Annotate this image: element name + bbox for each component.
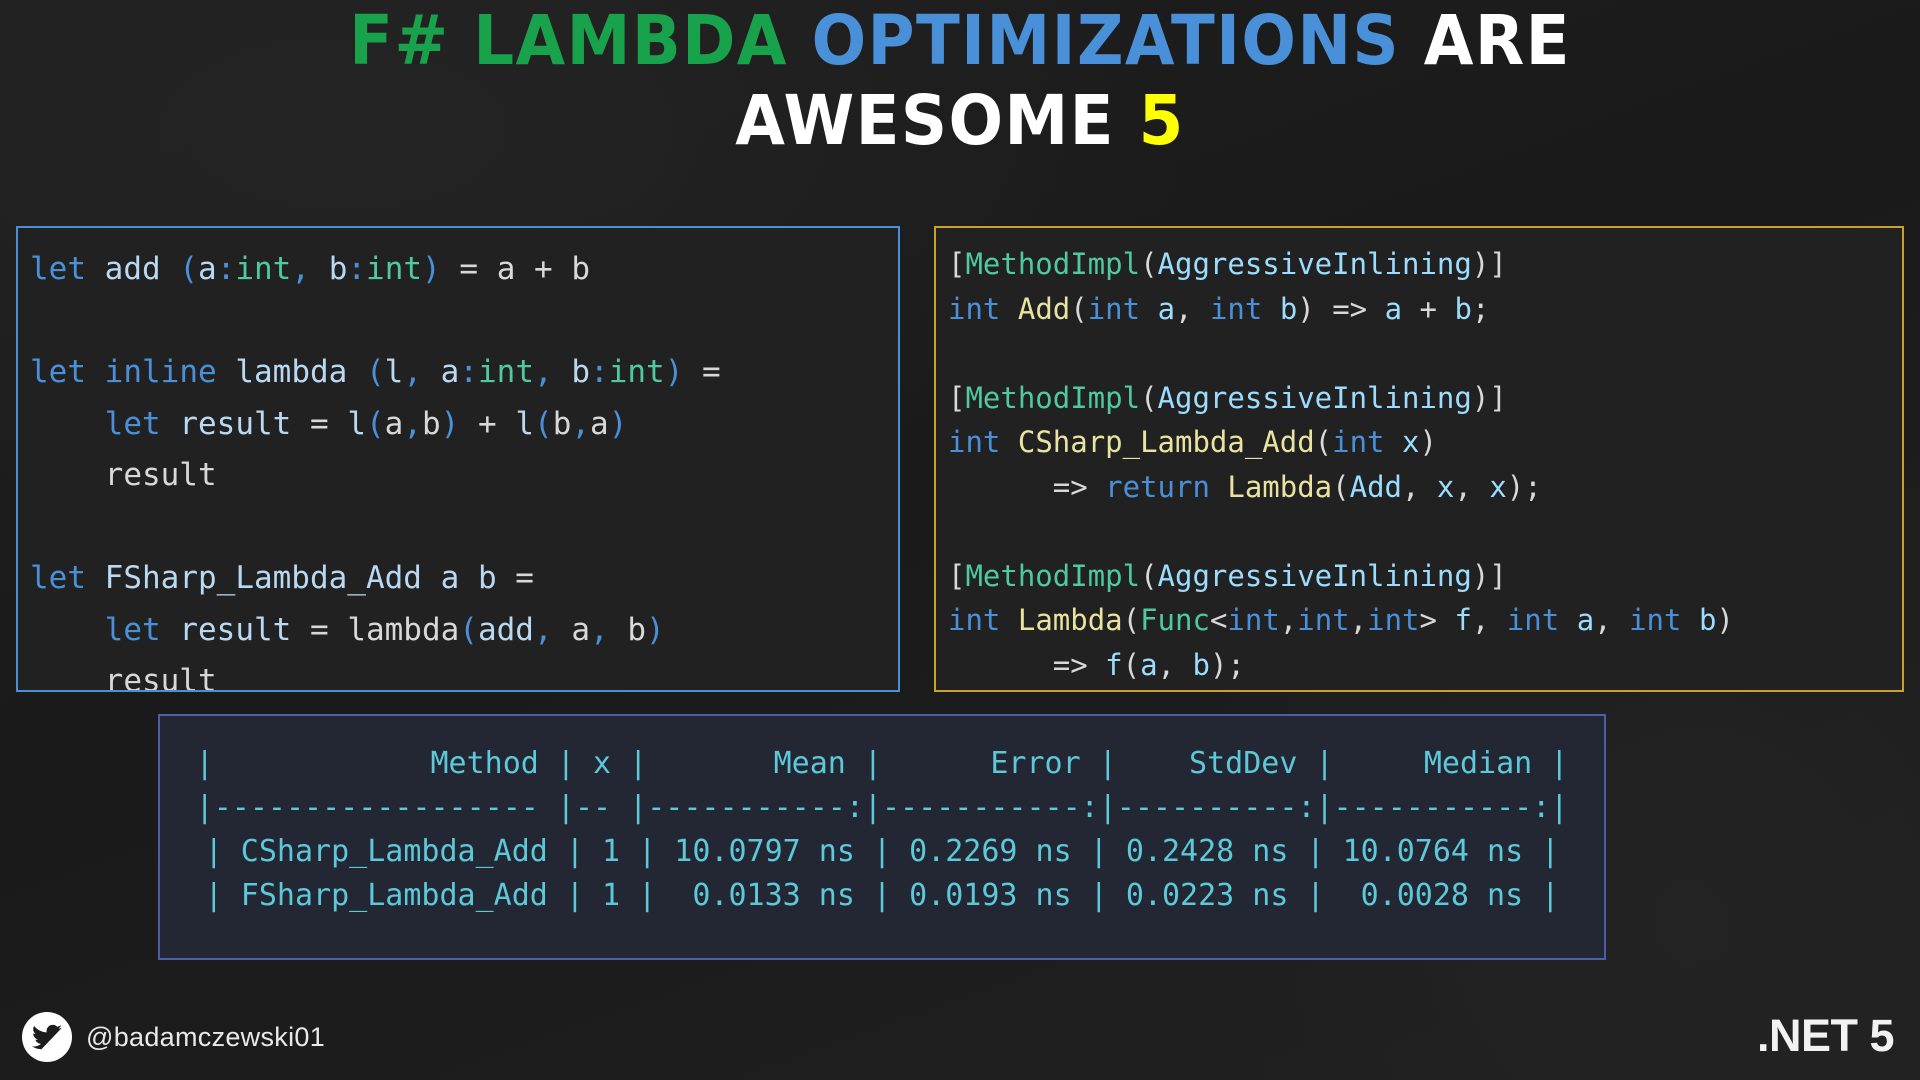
code-token (161, 406, 180, 442)
code-token: b (422, 406, 441, 442)
code-token: a (441, 560, 460, 596)
code-token: int (948, 425, 1000, 459)
code-token: , (534, 612, 553, 648)
code-token (217, 354, 236, 390)
code-token: f (1454, 603, 1471, 637)
table-row: | CSharp_Lambda_Add | 1 | 10.0797 ns | 0… (160, 830, 1604, 874)
fsharp-code-panel: let add (a:int, b:int) = a + b let inlin… (16, 226, 900, 692)
code-token: ( (1140, 559, 1157, 593)
code-token (30, 457, 105, 493)
code-token: int (609, 354, 665, 390)
code-token: lambda (347, 612, 459, 648)
code-token: ) (422, 251, 441, 287)
code-token: Func (1140, 603, 1210, 637)
code-token: ( (1123, 648, 1140, 682)
code-token (86, 251, 105, 287)
code-token: ( (179, 251, 198, 287)
code-token: => (948, 648, 1105, 682)
footer-social: @badamczewski01 (22, 1012, 325, 1062)
csharp-code-panel: [MethodImpl(AggressiveInlining)]int Add(… (934, 226, 1904, 692)
code-token: = (291, 612, 347, 648)
code-token: : (459, 354, 478, 390)
code-token: result (105, 663, 217, 692)
code-token: MethodImpl (965, 381, 1140, 415)
code-line: let FSharp_Lambda_Add a b = (30, 553, 888, 605)
code-token: b (571, 251, 590, 287)
code-line: [MethodImpl(AggressiveInlining)] (948, 554, 1892, 599)
code-token: > (1420, 603, 1437, 637)
code-token: ] (1489, 247, 1506, 281)
code-line (30, 502, 888, 554)
code-token: ) (1297, 292, 1314, 326)
code-token: : (347, 251, 366, 287)
code-token (86, 560, 105, 596)
code-token (1210, 470, 1227, 504)
code-token: ) (609, 406, 628, 442)
code-token: , (1350, 603, 1367, 637)
code-token: AggressiveInlining (1158, 559, 1472, 593)
code-token: , (403, 406, 422, 442)
code-token: result (179, 406, 291, 442)
code-token (30, 406, 105, 442)
code-token: + (459, 406, 515, 442)
code-token: add (478, 612, 534, 648)
title-segment-number: 5 (1139, 81, 1185, 161)
code-token: f (1105, 648, 1122, 682)
code-token: x (1402, 425, 1419, 459)
code-token (1262, 292, 1279, 326)
code-token (422, 354, 441, 390)
code-token: ( (459, 612, 478, 648)
code-token: ( (1332, 470, 1349, 504)
code-token: int (1332, 425, 1384, 459)
code-token: a (1140, 648, 1157, 682)
table-row: | Method | x | Mean | Error | StdDev | M… (160, 742, 1604, 786)
title-segment-fsharp-lambda: F# LAMBDA (349, 1, 788, 81)
code-token (1385, 425, 1402, 459)
code-token (1140, 292, 1157, 326)
code-token: int (366, 251, 422, 287)
code-token: FSharp_Lambda_Add (105, 560, 422, 596)
code-token: ) (1419, 425, 1436, 459)
code-token: int (948, 603, 1000, 637)
code-token: AggressiveInlining (1158, 381, 1472, 415)
code-token (1681, 603, 1698, 637)
code-token: lambda (235, 354, 347, 390)
code-token: let (30, 354, 86, 390)
code-token: x (1437, 470, 1454, 504)
code-token: a (1577, 603, 1594, 637)
code-token: int (1210, 292, 1262, 326)
code-token: ( (1140, 381, 1157, 415)
slide-root: F# LAMBDA OPTIMIZATIONS ARE AWESOME 5 le… (0, 0, 1920, 1080)
code-token: , (291, 251, 310, 287)
code-token: ( (1315, 425, 1332, 459)
code-token: b (627, 612, 646, 648)
code-token: Lambda (1227, 470, 1332, 504)
twitter-bird-icon[interactable] (22, 1012, 72, 1062)
code-token: < (1210, 603, 1227, 637)
code-token (86, 354, 105, 390)
code-token: + (515, 251, 571, 287)
code-token: , (1175, 292, 1210, 326)
code-token: int (235, 251, 291, 287)
title-segment-awesome: AWESOME (735, 81, 1115, 161)
code-token: b (553, 406, 572, 442)
code-token: MethodImpl (965, 559, 1140, 593)
code-line (948, 509, 1892, 554)
code-token: b (329, 251, 348, 287)
code-line: let inline lambda (l, a:int, b:int) = (30, 347, 888, 399)
code-token: ] (1489, 559, 1506, 593)
code-token: ); (1507, 470, 1542, 504)
code-token: int (478, 354, 534, 390)
code-token: x (1489, 470, 1506, 504)
code-token (1000, 292, 1017, 326)
code-token: , (1158, 648, 1193, 682)
code-token: int (1227, 603, 1279, 637)
twitter-handle-label: @badamczewski01 (86, 1022, 325, 1053)
code-token (1000, 603, 1017, 637)
code-token: int (1367, 603, 1419, 637)
code-token (553, 612, 572, 648)
code-token (1437, 603, 1454, 637)
code-token: a (198, 251, 217, 287)
code-token: let (105, 612, 161, 648)
code-token (161, 251, 180, 287)
code-token: Add (1350, 470, 1402, 504)
code-token: ) (665, 354, 684, 390)
code-token: b (478, 560, 497, 596)
code-token: l (385, 354, 404, 390)
code-line: result (30, 450, 888, 502)
code-token: a (1385, 292, 1402, 326)
code-token: = (683, 354, 720, 390)
code-token: l (515, 406, 534, 442)
code-token: ( (1070, 292, 1087, 326)
code-token: int (1088, 292, 1140, 326)
code-token: a (385, 406, 404, 442)
code-token: , (1472, 603, 1507, 637)
title-segment-optimizations: OPTIMIZATIONS (812, 1, 1400, 81)
code-token: ); (1210, 648, 1245, 682)
code-line (948, 331, 1892, 376)
code-token: ( (366, 354, 385, 390)
code-token: ( (1140, 247, 1157, 281)
code-token: ] (1489, 381, 1506, 415)
code-token: = (441, 251, 497, 287)
code-line: result (30, 656, 888, 692)
title-line-2: AWESOME 5 (67, 86, 1853, 156)
code-token: + (1402, 292, 1454, 326)
code-token: Lambda (1018, 603, 1123, 637)
title-segment-are: ARE (1424, 1, 1571, 81)
code-token: ( (1123, 603, 1140, 637)
code-line: let result = l(a,b) + l(b,a) (30, 399, 888, 451)
code-token: b (1699, 603, 1716, 637)
code-token: ) (1472, 381, 1489, 415)
code-token: ) (1716, 603, 1733, 637)
benchmark-results-table: | Method | x | Mean | Error | StdDev | M… (158, 714, 1606, 960)
code-token: [ (948, 247, 965, 281)
code-token (30, 663, 105, 692)
code-token: b (1192, 648, 1209, 682)
table-row: | FSharp_Lambda_Add | 1 | 0.0133 ns | 0.… (160, 874, 1604, 918)
code-token: ) (1472, 559, 1489, 593)
code-token: : (590, 354, 609, 390)
code-token (553, 354, 572, 390)
code-token: , (590, 612, 609, 648)
code-token: , (1280, 603, 1297, 637)
code-token: a (441, 354, 460, 390)
code-token: ( (534, 406, 553, 442)
code-token: result (179, 612, 291, 648)
code-token: [ (948, 559, 965, 593)
code-token: a (1158, 292, 1175, 326)
code-line (30, 296, 888, 348)
code-token: => (948, 470, 1105, 504)
code-token (30, 612, 105, 648)
code-line: let result = lambda(add, a, b) (30, 605, 888, 657)
code-token: MethodImpl (965, 247, 1140, 281)
code-token: Add (1018, 292, 1070, 326)
code-token: int (1297, 603, 1349, 637)
code-line: int CSharp_Lambda_Add(int x) (948, 420, 1892, 465)
code-token: int (1629, 603, 1681, 637)
code-token (161, 612, 180, 648)
code-token: ( (366, 406, 385, 442)
code-token: , (571, 406, 590, 442)
code-line: [MethodImpl(AggressiveInlining)] (948, 376, 1892, 421)
code-token: , (1594, 603, 1629, 637)
code-token: => (1315, 292, 1385, 326)
platform-label: .NET 5 (1757, 1010, 1894, 1062)
code-line: int Add(int a, int b) => a + b; (948, 287, 1892, 332)
code-token: : (217, 251, 236, 287)
code-token (1559, 603, 1576, 637)
code-token: result (105, 457, 217, 493)
code-token: [ (948, 381, 965, 415)
code-line: => f(a, b); (948, 643, 1892, 688)
code-token: ; (1472, 292, 1489, 326)
code-line: [MethodImpl(AggressiveInlining)] (948, 242, 1892, 287)
code-token: = (497, 560, 534, 596)
code-line: => return Lambda(Add, x, x); (948, 465, 1892, 510)
code-token: let (30, 560, 86, 596)
code-token: b (571, 354, 590, 390)
code-token: a (590, 406, 609, 442)
code-token: let (105, 406, 161, 442)
code-line: let add (a:int, b:int) = a + b (30, 244, 888, 296)
code-token: AggressiveInlining (1158, 247, 1472, 281)
code-token: , (534, 354, 553, 390)
code-token: int (1507, 603, 1559, 637)
code-token: , (1454, 470, 1489, 504)
code-token (1000, 425, 1017, 459)
code-token: , (1402, 470, 1437, 504)
code-token: let (30, 251, 86, 287)
code-token: b (1280, 292, 1297, 326)
code-token (422, 560, 441, 596)
code-token: ) (646, 612, 665, 648)
code-token (310, 251, 329, 287)
code-token (459, 560, 478, 596)
code-token: add (105, 251, 161, 287)
title-line-1: F# LAMBDA OPTIMIZATIONS ARE (67, 6, 1853, 76)
code-token: l (347, 406, 366, 442)
code-token: return (1105, 470, 1210, 504)
code-token: a (497, 251, 516, 287)
table-row: |------------------ |-- |-----------:|--… (160, 786, 1604, 830)
code-token: , (403, 354, 422, 390)
code-token: = (291, 406, 347, 442)
code-token: ) (1472, 247, 1489, 281)
code-token: int (948, 292, 1000, 326)
code-token (347, 354, 366, 390)
code-token: ) (441, 406, 460, 442)
code-token: CSharp_Lambda_Add (1018, 425, 1315, 459)
page-title: F# LAMBDA OPTIMIZATIONS ARE AWESOME 5 (0, 6, 1920, 157)
code-token: a (571, 612, 590, 648)
code-line: int Lambda(Func<int,int,int> f, int a, i… (948, 598, 1892, 643)
code-token: b (1454, 292, 1471, 326)
code-token (609, 612, 628, 648)
code-token: inline (105, 354, 217, 390)
